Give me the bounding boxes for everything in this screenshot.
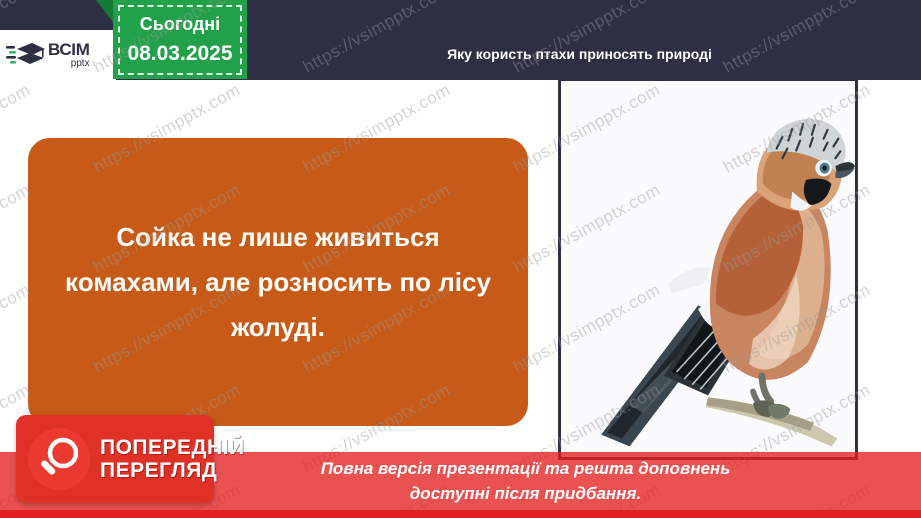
- brand-logo[interactable]: ВСІМ pptx: [0, 30, 116, 80]
- preview-badge-line2: ПЕРЕГЛЯД: [100, 459, 245, 482]
- preview-badge-label: ПОПЕРЕДНІЙ ПЕРЕГЛЯД: [100, 436, 245, 482]
- logo-wordmark: ВСІМ pptx: [48, 41, 90, 69]
- date-today-label: Сьогодні: [117, 14, 243, 35]
- purchase-notice-line2: доступні після придбання.: [410, 484, 641, 503]
- magnifier-icon: [28, 428, 90, 490]
- bottom-red-strip: [0, 510, 921, 518]
- preview-badge[interactable]: ПОПЕРЕДНІЙ ПЕРЕГЛЯД: [16, 415, 214, 503]
- page-title: Яку користь птахи приносять природі: [447, 46, 712, 62]
- date-value: 08.03.2025: [117, 42, 243, 66]
- graduation-cap-icon: [6, 40, 46, 70]
- purchase-notice-text: Повна версія презентації та решта доповн…: [191, 456, 731, 506]
- logo-subtitle: pptx: [48, 59, 90, 69]
- presentation-slide: ВСІМ pptx Сьогодні 08.03.2025 Яку корист…: [0, 0, 921, 518]
- content-card: Сойка не лише живиться комахами, але роз…: [28, 138, 528, 426]
- date-ribbon: Сьогодні 08.03.2025: [113, 0, 247, 79]
- bird-image-frame: [558, 78, 858, 460]
- slide-header-bar: Яку користь птахи приносять природі: [258, 36, 901, 72]
- content-text: Сойка не лише живиться комахами, але роз…: [50, 215, 506, 350]
- preview-badge-line1: ПОПЕРЕДНІЙ: [100, 436, 245, 459]
- purchase-notice-line1: Повна версія презентації та решта доповн…: [321, 459, 731, 478]
- logo-title: ВСІМ: [48, 41, 90, 58]
- bird-illustration: [561, 81, 855, 457]
